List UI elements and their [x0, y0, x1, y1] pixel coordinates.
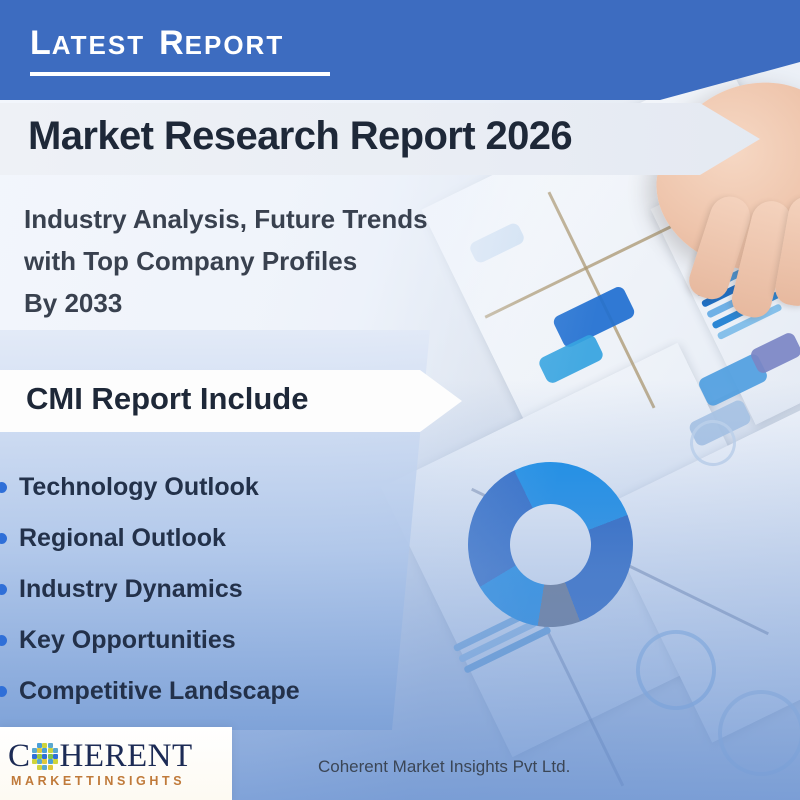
subtitle-line: with Top Company Profiles [24, 240, 544, 282]
latest-rest: ATEST [52, 32, 145, 58]
list-item: Key Opportunities [0, 615, 440, 666]
bullet-dot-icon [0, 584, 7, 595]
page-title: Market Research Report 2026 [28, 114, 572, 159]
list-item: Competitive Landscape [0, 666, 440, 717]
list-item: Regional Outlook [0, 513, 440, 564]
list-item-label: Regional Outlook [19, 524, 226, 553]
header-underline [30, 72, 330, 76]
footer-company-name: Coherent Market Insights Pvt Ltd. [318, 757, 570, 777]
marketing-poster: L ATEST R EPORT Market Research Report 2… [0, 0, 800, 800]
list-item-label: Technology Outlook [19, 473, 259, 502]
dotted-circle-logo-icon [32, 743, 59, 770]
list-item: Technology Outlook [0, 462, 440, 513]
bullet-dot-icon [0, 635, 7, 646]
list-item: Industry Dynamics [0, 564, 440, 615]
latest-report-label: L ATEST R EPORT [30, 26, 284, 60]
subtitle: Industry Analysis, Future Trends with To… [24, 198, 544, 324]
report-lead-letter: R [159, 26, 185, 60]
report-rest: EPORT [185, 32, 285, 58]
latest-lead-letter: L [30, 26, 52, 60]
cmi-banner-label: CMI Report Include [26, 381, 308, 417]
list-item-label: Competitive Landscape [19, 677, 300, 706]
subtitle-line: Industry Analysis, Future Trends [24, 198, 544, 240]
bullet-dot-icon [0, 533, 7, 544]
logo-tagline: MARKETTINSIGHTS [11, 774, 185, 788]
list-item-label: Industry Dynamics [19, 575, 243, 604]
list-item-label: Key Opportunities [19, 626, 236, 655]
subtitle-line: By 2033 [24, 282, 544, 324]
bullet-dot-icon [0, 482, 7, 493]
logo: C HERENT MARKETTINSIGHTS [0, 727, 232, 800]
logo-word-end: HERENT [60, 738, 193, 775]
logo-word-start: C [8, 738, 31, 775]
bullet-dot-icon [0, 686, 7, 697]
report-include-list: Technology Outlook Regional Outlook Indu… [0, 462, 440, 717]
